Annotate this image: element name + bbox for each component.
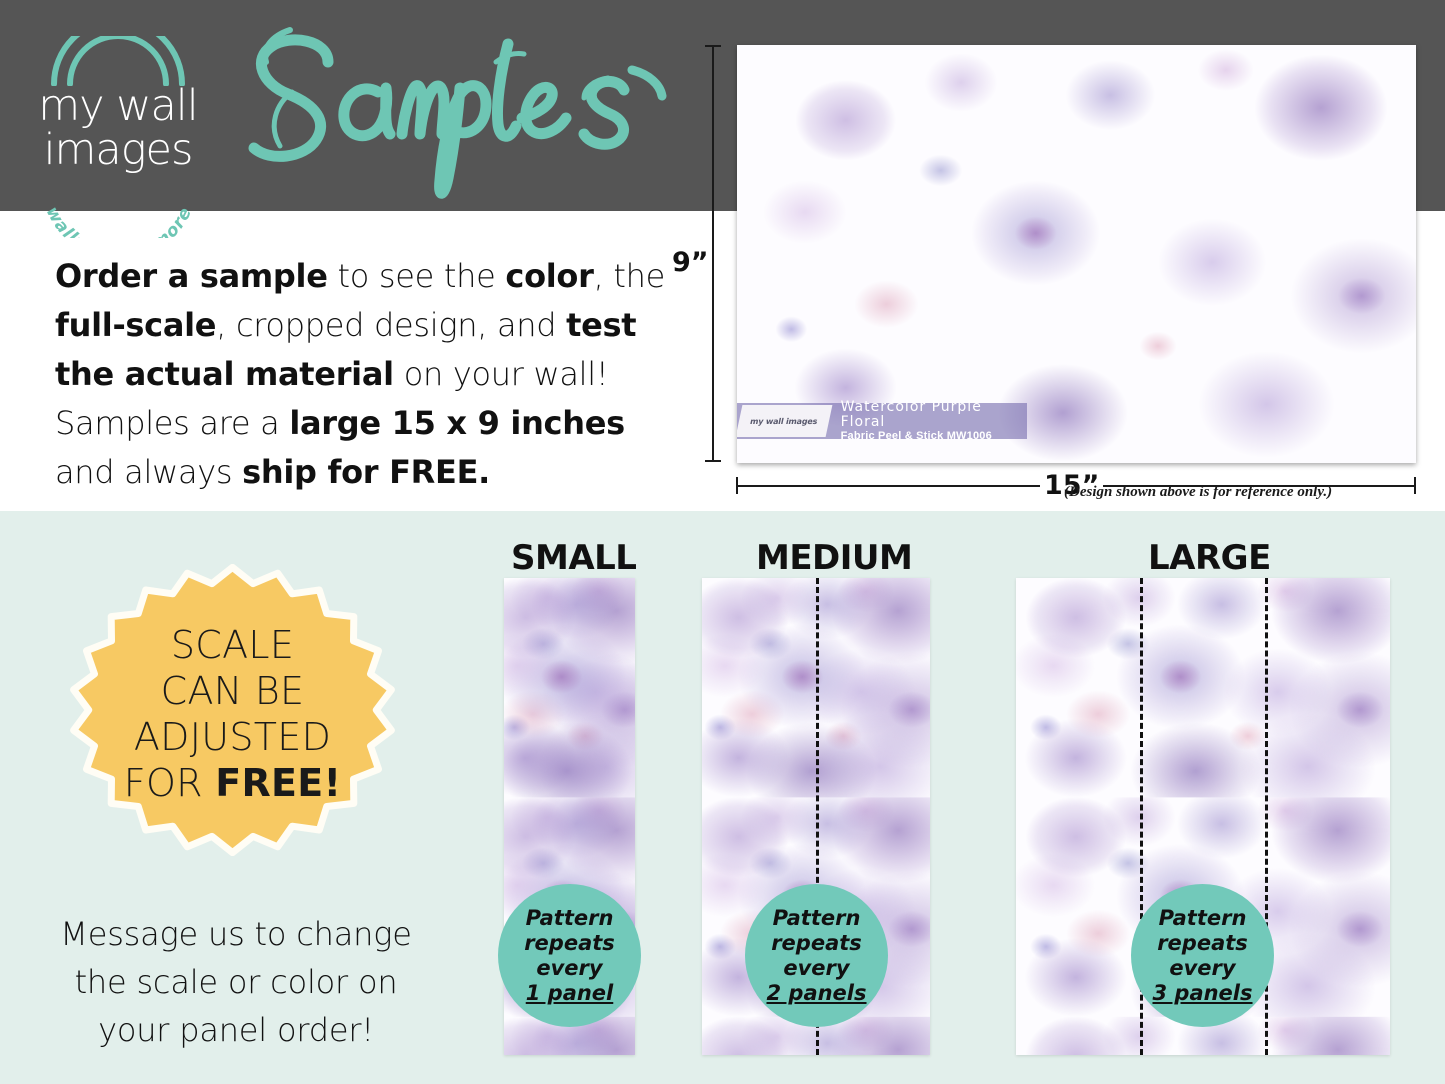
width-dimension-cap-left (736, 477, 738, 494)
sample-preview-image: my wall images Watercolor Purple Floral … (737, 45, 1416, 463)
column-heading-large: LARGE (1148, 538, 1271, 578)
samples-script-title: Samples (232, 22, 702, 202)
height-dimension-cap-bottom (705, 460, 721, 462)
watercolor-floral-artwork (737, 45, 1416, 463)
repeat-badge-large: Patternrepeatsevery3 panels (1131, 884, 1274, 1027)
width-dimension-cap-right (1414, 477, 1416, 494)
height-dimension-label: 9” (672, 247, 709, 278)
reference-only-note: (Design shown above is for reference onl… (1064, 484, 1332, 501)
watermark-sku: Fabric Peel & Stick MW1006 (841, 430, 1027, 443)
message-us-copy: Message us to changethe scale or color o… (36, 910, 436, 1054)
repeat-badge-medium: Patternrepeatsevery2 panels (745, 884, 888, 1027)
repeat-badge-large-text: Patternrepeatsevery3 panels (1152, 906, 1252, 1006)
watermark-logo: my wall images (737, 405, 832, 437)
repeat-badge-small-text: Patternrepeatsevery1 panel (524, 906, 615, 1006)
repeat-badge-small: Patternrepeatsevery1 panel (498, 884, 641, 1027)
logo-line-1: my wall (18, 84, 218, 128)
logo-arc-icon (48, 36, 188, 86)
svg-text:wallpaper + more: wallpaper + more (42, 203, 197, 238)
watermark-design-name: Watercolor Purple Floral (841, 400, 1027, 430)
scale-adjust-badge: SCALECAN BEADJUSTEDFOR FREE! (66, 564, 399, 856)
brand-logo: my wall images wallpaper + more (18, 36, 218, 196)
column-heading-medium: MEDIUM (756, 538, 912, 578)
watermark-text: Watercolor Purple Floral Fabric Peel & S… (841, 400, 1027, 443)
logo-tagline: wallpaper + more (24, 148, 214, 238)
scale-badge-lines: SCALECAN BEADJUSTEDFOR FREE! (66, 622, 399, 806)
height-dimension-line (712, 45, 714, 462)
logo-tagline-text: wallpaper + more (42, 203, 197, 238)
repeat-badge-medium-text: Patternrepeatsevery2 panels (766, 906, 866, 1006)
sample-watermark-bar: my wall images Watercolor Purple Floral … (737, 403, 1027, 439)
column-heading-small: SMALL (511, 538, 636, 578)
intro-paragraph: Order a sample to see the color, the ful… (55, 252, 675, 497)
height-dimension-cap-top (705, 45, 721, 47)
